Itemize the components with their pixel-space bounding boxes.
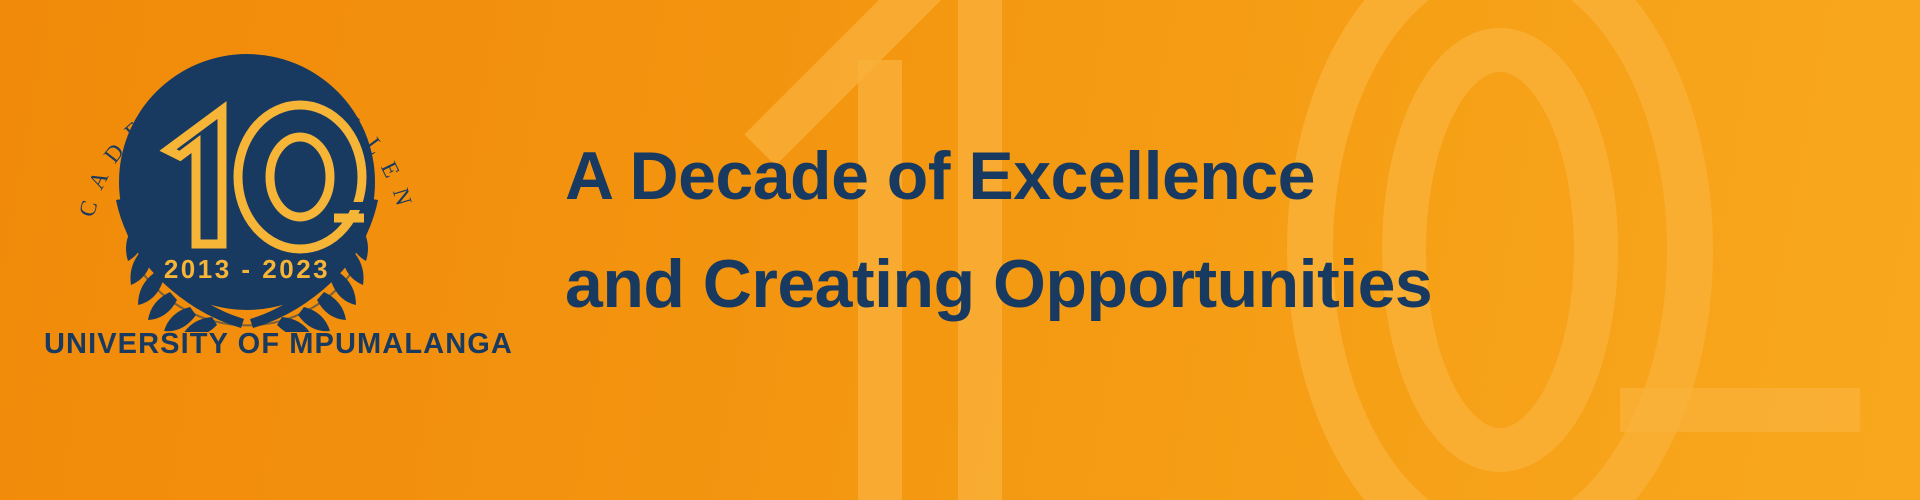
decade-of-excellence-emblem: DECADE OF EXCELLENCE 2013 - 2023 (72, 22, 422, 332)
headline-line-1: A Decade of Excellence (565, 122, 1825, 230)
logo-block: DECADE OF EXCELLENCE 2013 - 2023 UNIVERS… (0, 0, 500, 500)
headline-line-2: and Creating Opportunities (565, 230, 1825, 338)
headline: A Decade of Excellence and Creating Oppo… (565, 122, 1825, 338)
university-name: UNIVERSITY OF MPUMALANGA (44, 328, 484, 361)
emblem-years: 2013 - 2023 (164, 254, 330, 284)
anniversary-banner: DECADE OF EXCELLENCE 2013 - 2023 UNIVERS… (0, 0, 1920, 500)
emblem-numeral-notch (334, 202, 370, 210)
